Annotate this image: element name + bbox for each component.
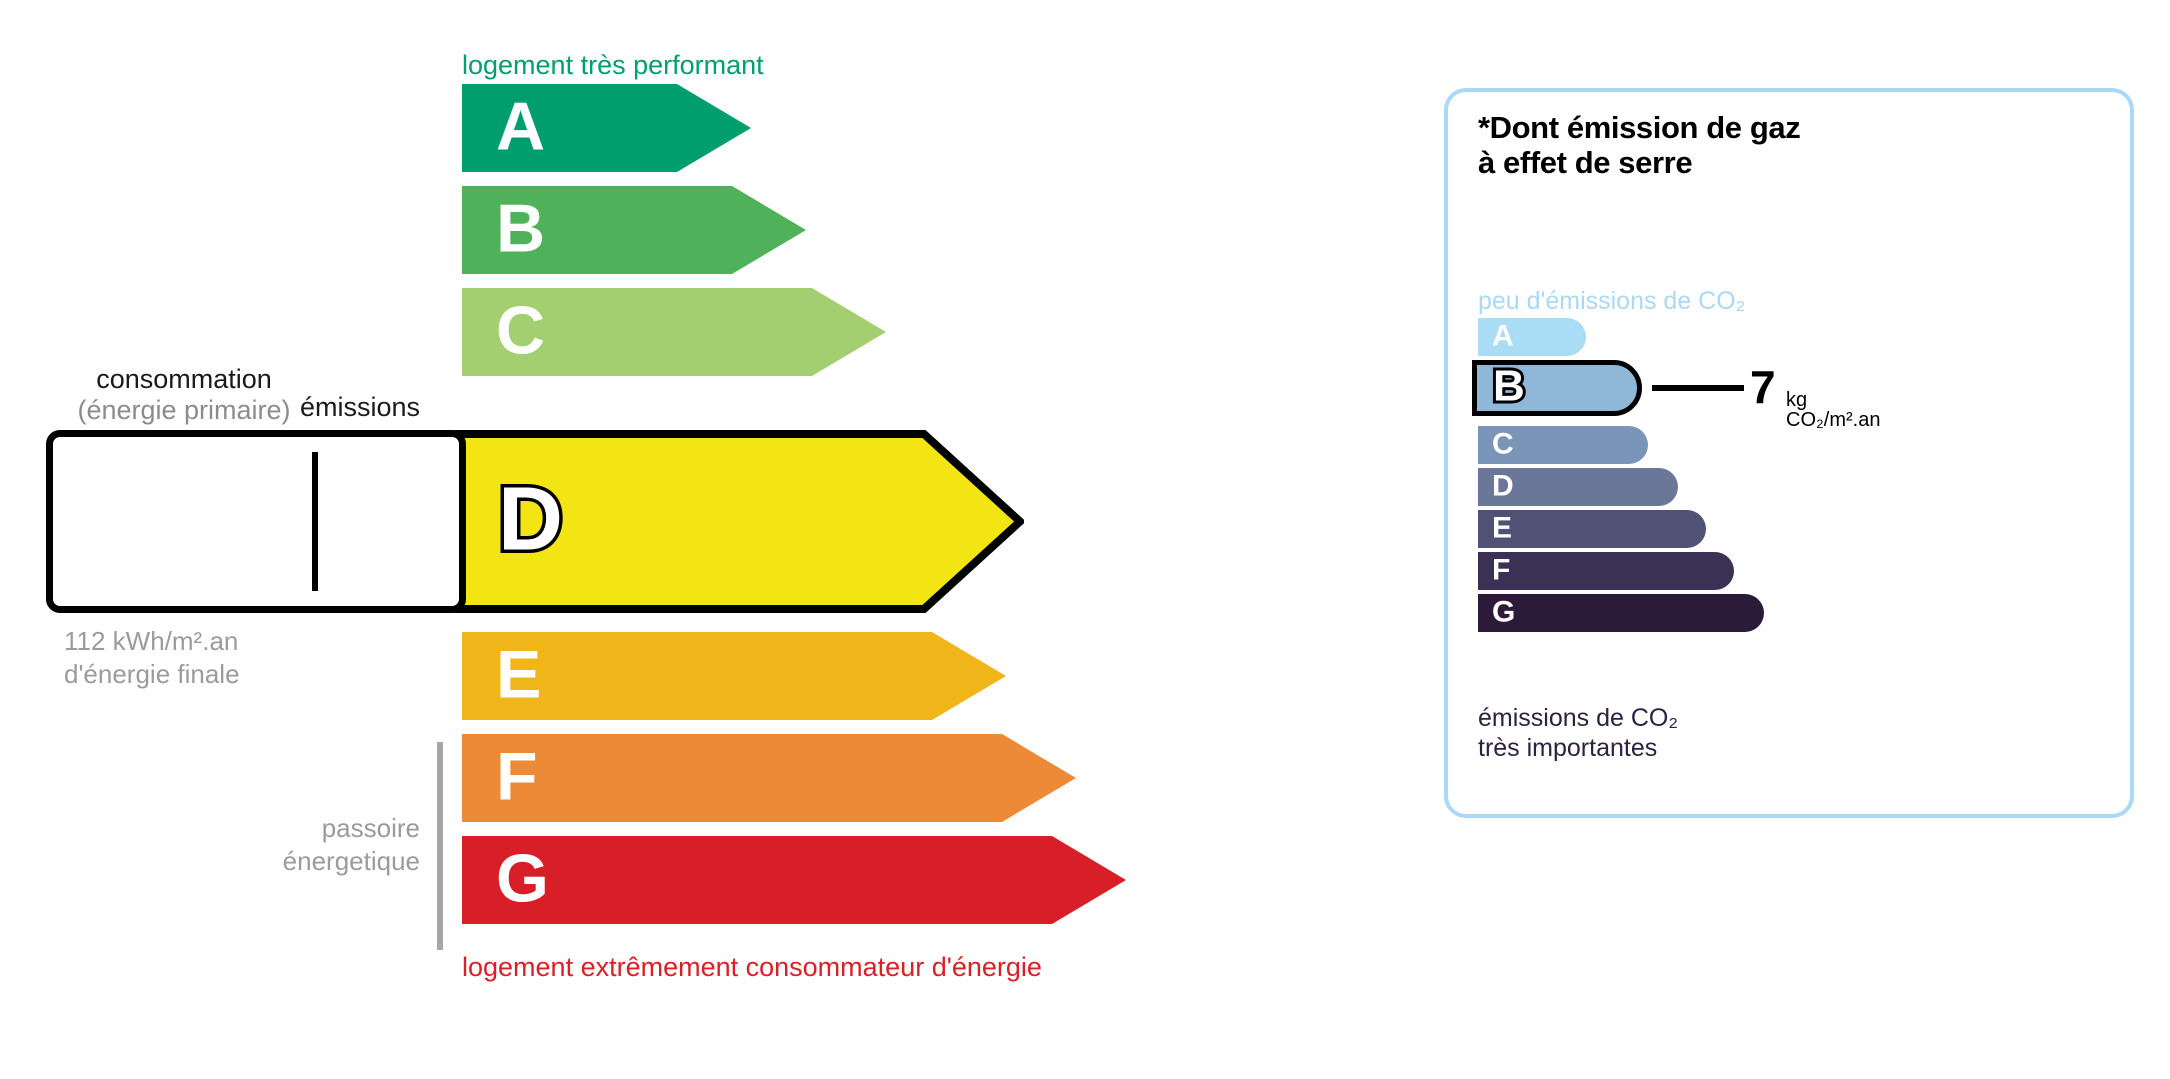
co2-bar-d: D	[1478, 468, 1678, 506]
co2-panel: *Dont émission de gaz à effet de serre p…	[1444, 88, 2134, 818]
co2-row-b-highlight: B7kg CO₂/m².an	[1472, 360, 1642, 416]
energy-letter-c: C	[496, 297, 545, 365]
co2-row-d: D	[1478, 468, 1678, 506]
dpe-diagram: logement très performant ABCEFG D 241 kW…	[0, 0, 2170, 1079]
final-energy-line2: d'énergie finale	[64, 658, 240, 691]
co2-bottom-caption: émissions de CO₂ très importantes	[1478, 704, 1678, 763]
co2-top-caption: peu d'émissions de CO₂	[1478, 287, 1745, 316]
co2-letter-e: E	[1492, 513, 1512, 543]
co2-title-line1: *Dont émission de gaz	[1478, 110, 1800, 145]
co2-bar-b: B	[1472, 360, 1642, 416]
emissions-label: émissions	[300, 392, 420, 423]
final-energy-line1: 112 kWh/m².an	[64, 625, 240, 658]
energy-letter-g: G	[496, 845, 549, 913]
co2-bottom-line2: très importantes	[1478, 734, 1678, 764]
energy-letter-e: E	[496, 641, 541, 709]
energy-top-caption: logement très performant	[462, 50, 764, 81]
passoire-line2: énergetique	[150, 845, 420, 878]
co2-result-value: 7	[1750, 364, 1776, 410]
passoire-line1: passoire	[150, 812, 420, 845]
co2-row-f: F	[1478, 552, 1734, 590]
co2-row-g: G	[1478, 594, 1764, 632]
co2-result-unit: kg CO₂/m².an	[1786, 390, 1880, 430]
energy-arrow-f	[462, 734, 1076, 822]
co2-title-line2: à effet de serre	[1478, 145, 1800, 180]
co2-bottom-line1: émissions de CO₂	[1478, 704, 1678, 734]
co2-bar-a: A	[1478, 318, 1586, 356]
energy-row-c: C	[462, 288, 886, 376]
energy-row-a: A	[462, 84, 751, 172]
energy-result-separator	[312, 452, 318, 591]
energy-row-e: E	[462, 632, 1006, 720]
passoire-bracket	[437, 742, 443, 950]
co2-bar-g: G	[1478, 594, 1764, 632]
co2-bar-e: E	[1478, 510, 1706, 548]
energy-arrow-e	[462, 632, 1006, 720]
co2-letter-c: C	[1492, 429, 1514, 459]
co2-leader-line	[1652, 385, 1744, 391]
consumption-label-sub: (énergie primaire)	[64, 395, 304, 426]
co2-row-e: E	[1478, 510, 1706, 548]
energy-result-box	[46, 430, 466, 613]
energy-letter-a: A	[496, 93, 545, 161]
final-energy-note: 112 kWh/m².an d'énergie finale	[64, 625, 240, 690]
energy-row-g: G	[462, 836, 1126, 924]
energy-letter-b: B	[496, 195, 545, 263]
co2-letter-g: G	[1492, 597, 1515, 627]
energy-bottom-caption: logement extrêmement consommateur d'éner…	[462, 952, 1042, 983]
energy-result-letter: D	[498, 474, 563, 564]
consumption-label-title: consommation	[64, 364, 304, 395]
co2-row-c: C	[1478, 426, 1648, 464]
energy-result-row: D 241 kWh/m².an 7* kg CO₂/m².an	[46, 430, 1006, 613]
co2-letter-d: D	[1492, 471, 1514, 501]
co2-letter-b: B	[1493, 365, 1525, 409]
co2-letter-a: A	[1492, 321, 1514, 351]
energy-letter-f: F	[496, 743, 538, 811]
energy-row-b: B	[462, 186, 806, 274]
consumption-label: consommation (énergie primaire)	[64, 364, 304, 426]
co2-bar-c: C	[1478, 426, 1648, 464]
co2-row-a: A	[1478, 318, 1586, 356]
co2-panel-title: *Dont émission de gaz à effet de serre	[1478, 110, 1800, 180]
co2-bar-f: F	[1478, 552, 1734, 590]
energy-row-f: F	[462, 734, 1076, 822]
passoire-label: passoire énergetique	[150, 812, 420, 877]
energy-arrow-g	[462, 836, 1126, 924]
co2-letter-f: F	[1492, 555, 1510, 585]
